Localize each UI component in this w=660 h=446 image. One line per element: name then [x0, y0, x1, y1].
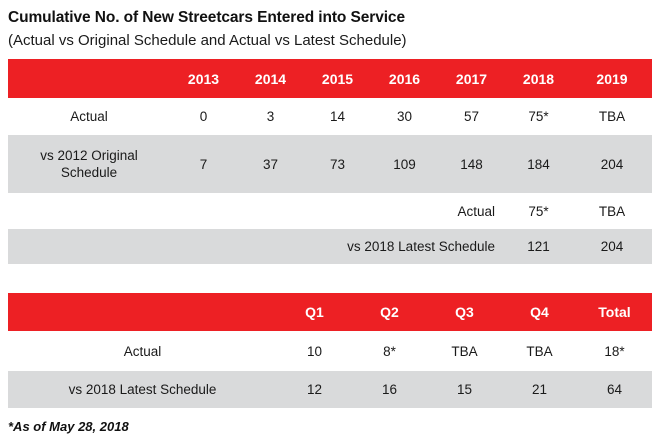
table-row: vs 2012 Original Schedule 7 37 73 109 14… [8, 135, 652, 193]
table-row: Actual 75* TBA [8, 193, 652, 229]
annual-cell-original-2019: 204 [572, 135, 652, 193]
annual-cell-actual-2015: 14 [304, 98, 371, 135]
annual-header-2017: 2017 [438, 59, 505, 98]
quarterly-cell-actual-q1: 10 [277, 331, 352, 371]
annual-row-label-latest-schedule: vs 2018 Latest Schedule [8, 229, 505, 264]
annual-cell-original-2016: 109 [371, 135, 438, 193]
annual-table-header-row: 2013 2014 2015 2016 2017 2018 2019 [8, 59, 652, 98]
annual-row-label-original-schedule: vs 2012 Original Schedule [8, 135, 170, 193]
annual-cell-latest-2018: 121 [505, 229, 572, 264]
annual-cell-actual-2018: 75* [505, 98, 572, 135]
quarterly-cell-latest-q3: 15 [427, 371, 502, 408]
quarterly-cell-latest-q1: 12 [277, 371, 352, 408]
quarterly-header-q2: Q2 [352, 293, 427, 331]
annual-cell-actual-2017: 57 [438, 98, 505, 135]
quarterly-cell-actual-q2: 8* [352, 331, 427, 371]
annual-row-label-actual-latest: Actual [8, 193, 505, 229]
annual-table: 2013 2014 2015 2016 2017 2018 2019 Actua… [8, 59, 652, 264]
table-row: Actual 10 8* TBA TBA 18* [8, 331, 652, 371]
quarterly-cell-latest-q2: 16 [352, 371, 427, 408]
annual-cell-latest-2019: 204 [572, 229, 652, 264]
page-subtitle: (Actual vs Original Schedule and Actual … [8, 30, 660, 52]
annual-header-2013: 2013 [170, 59, 237, 98]
annual-header-2015: 2015 [304, 59, 371, 98]
annual-header-2019: 2019 [572, 59, 652, 98]
annual-cell-actual-2016: 30 [371, 98, 438, 135]
annual-row-label-actual: Actual [8, 98, 170, 135]
quarterly-row-label-latest-schedule: vs 2018 Latest Schedule [8, 371, 277, 408]
quarterly-header-q3: Q3 [427, 293, 502, 331]
quarterly-table-wrapper: Q1 Q2 Q3 Q4 Total Actual 10 8* TBA TBA 1… [8, 293, 652, 408]
annual-cell-original-2017: 148 [438, 135, 505, 193]
quarterly-cell-actual-q3: TBA [427, 331, 502, 371]
quarterly-cell-latest-q4: 21 [502, 371, 577, 408]
annual-cell-actual-latest-2019: TBA [572, 193, 652, 229]
table-row: vs 2018 Latest Schedule 121 204 [8, 229, 652, 264]
annual-table-wrapper: 2013 2014 2015 2016 2017 2018 2019 Actua… [8, 59, 652, 264]
annual-header-label [8, 59, 170, 98]
quarterly-cell-latest-total: 64 [577, 371, 652, 408]
annual-cell-original-2014: 37 [237, 135, 304, 193]
quarterly-cell-actual-total: 18* [577, 331, 652, 371]
table-row: vs 2018 Latest Schedule 12 16 15 21 64 [8, 371, 652, 408]
quarterly-table: Q1 Q2 Q3 Q4 Total Actual 10 8* TBA TBA 1… [8, 293, 652, 408]
table-row: Actual 0 3 14 30 57 75* TBA [8, 98, 652, 135]
annual-header-2016: 2016 [371, 59, 438, 98]
quarterly-header-q4: Q4 [502, 293, 577, 331]
footnote: *As of May 28, 2018 [8, 419, 660, 434]
annual-header-2018: 2018 [505, 59, 572, 98]
annual-cell-original-2015: 73 [304, 135, 371, 193]
annual-cell-original-2013: 7 [170, 135, 237, 193]
annual-cell-actual-latest-2018: 75* [505, 193, 572, 229]
quarterly-header-q1: Q1 [277, 293, 352, 331]
annual-cell-actual-2014: 3 [237, 98, 304, 135]
quarterly-table-header-row: Q1 Q2 Q3 Q4 Total [8, 293, 652, 331]
annual-cell-actual-2019: TBA [572, 98, 652, 135]
page-title: Cumulative No. of New Streetcars Entered… [8, 8, 660, 28]
quarterly-row-label-actual: Actual [8, 331, 277, 371]
quarterly-header-total: Total [577, 293, 652, 331]
quarterly-header-label [8, 293, 277, 331]
report-page: Cumulative No. of New Streetcars Entered… [0, 0, 660, 446]
title-block: Cumulative No. of New Streetcars Entered… [0, 0, 660, 52]
annual-cell-original-2018: 184 [505, 135, 572, 193]
quarterly-cell-actual-q4: TBA [502, 331, 577, 371]
annual-header-2014: 2014 [237, 59, 304, 98]
annual-cell-actual-2013: 0 [170, 98, 237, 135]
